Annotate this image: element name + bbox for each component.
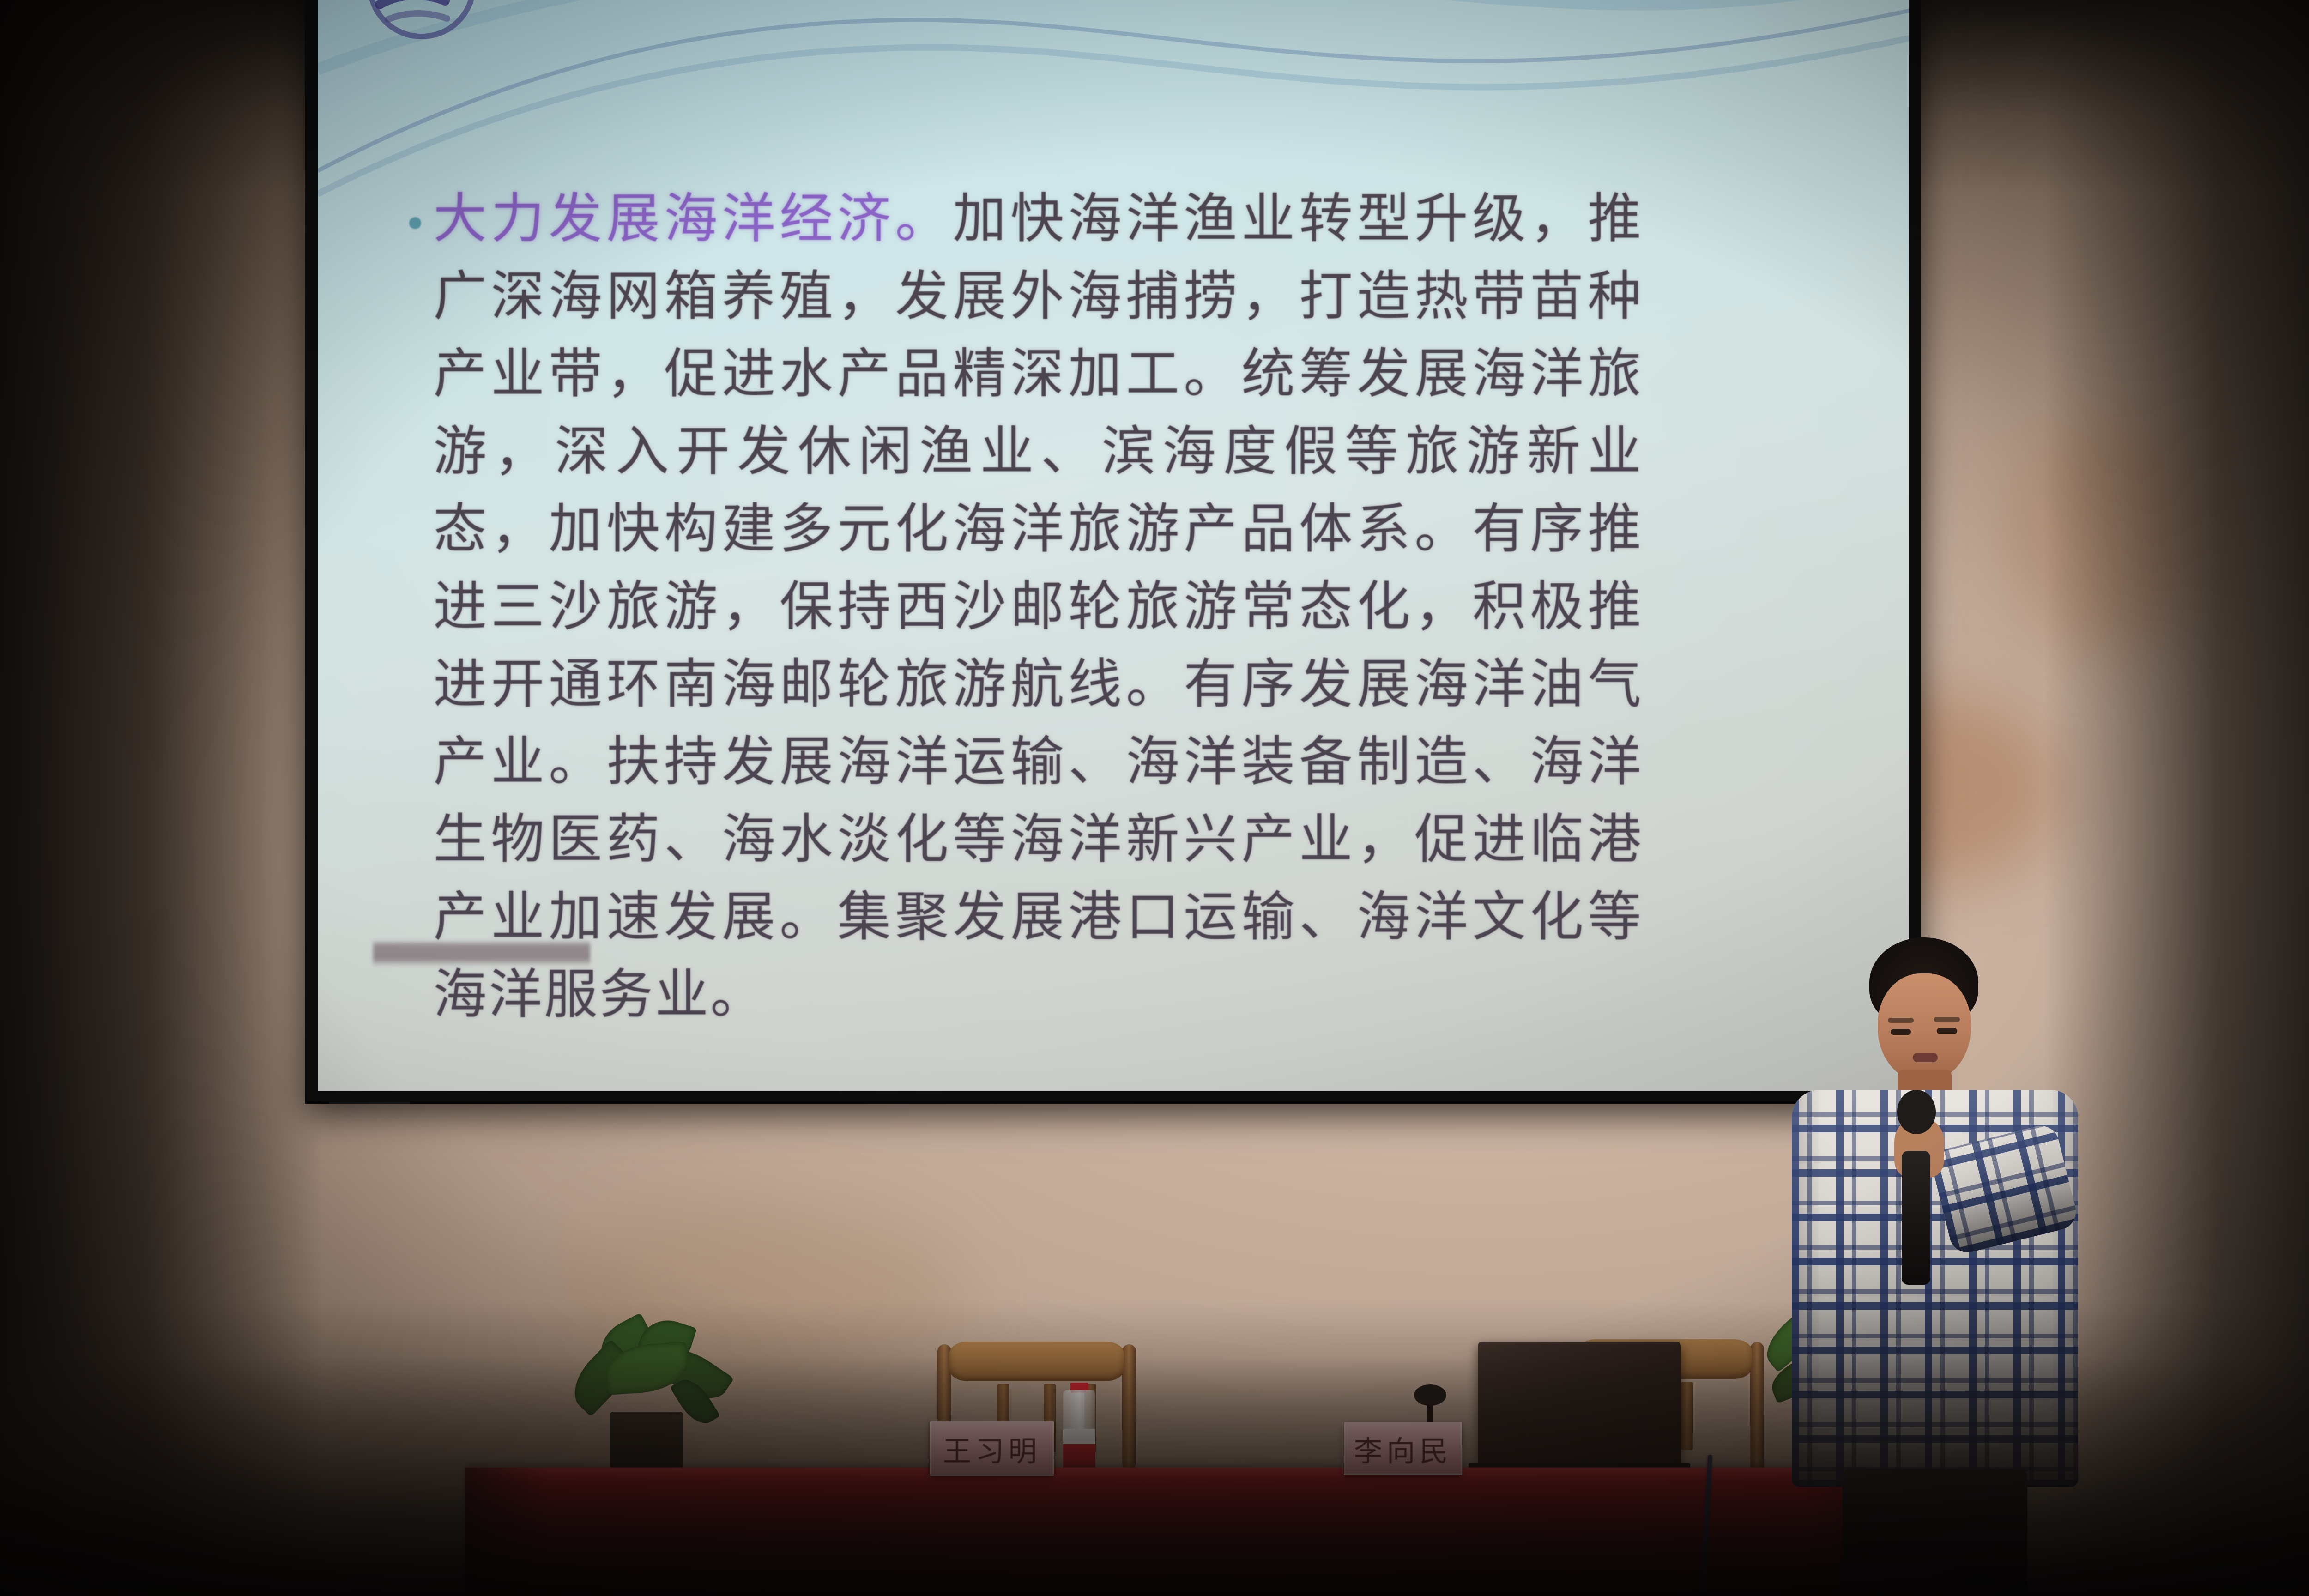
microphone-head-icon [1897,1090,1936,1134]
slide-body-text: 加快海洋渔业转型升级，推广深海网箱养殖，发展外海捕捞，打造热带苗种产业带，促进水… [433,187,1643,1026]
projection-screen-frame: 大力发展海洋经济。加快海洋渔业转型升级，推广深海网箱养殖，发展外海捕捞，打造热带… [305,0,1921,1104]
handheld-microphone[interactable] [1902,1151,1930,1285]
wall-shadow-bottom [0,1356,2309,1596]
bullet-dot-icon [409,217,421,229]
projection-screen-surface: 大力发展海洋经济。加快海洋渔业转型升级，推广深海网箱养殖，发展外海捕捞，打造热带… [318,0,1909,1091]
photo-scene: 大力发展海洋经济。加快海洋渔业转型升级，推广深海网箱养殖，发展外海捕捞，打造热带… [0,0,2309,1596]
slide-footer-band [373,940,590,967]
slide-paragraph: 大力发展海洋经济。加快海洋渔业转型升级，推广深海网箱养殖，发展外海捕捞，打造热带… [433,180,1643,1034]
slide-lead-phrase: 大力发展海洋经济。 [433,187,953,250]
speaker-face [1878,973,1971,1082]
slide-text-block: 大力发展海洋经济。加快海洋渔业转型升级，推广深海网箱养殖，发展外海捕捞，打造热带… [433,180,1643,1034]
speaker-mouth [1913,1053,1938,1062]
